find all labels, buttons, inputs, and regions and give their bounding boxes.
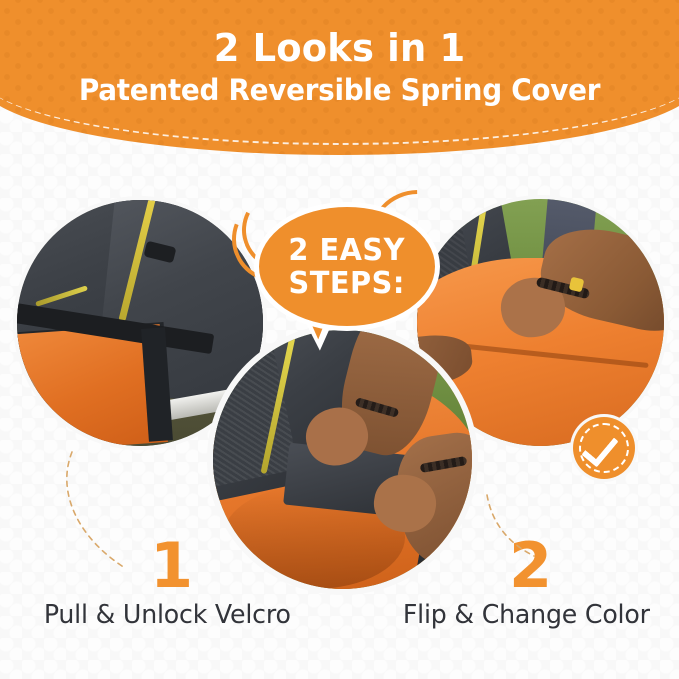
photo-step-2-image [213,330,472,589]
callout-bubble: 2 EASY STEPS: [236,194,456,354]
callout-bubble-body: 2 EASY STEPS: [254,202,440,331]
callout-text-line-2: STEPS: [289,267,406,300]
header-text-block: 2 Looks in 1 Patented Reversible Spring … [0,0,679,108]
infographic-stage: 2 Looks in 1 Patented Reversible Spring … [0,0,679,679]
step-number-2: 2 [509,535,552,597]
page-title: 2 Looks in 1 [10,26,669,70]
connector-line-step-1 [67,452,125,568]
step-number-1: 1 [150,535,193,597]
step-label-2: Flip & Change Color [403,600,650,630]
callout-text: 2 EASY STEPS: [289,234,406,300]
check-badge [573,417,635,479]
photo-step-2 [213,330,472,589]
callout-text-line-1: 2 EASY [289,234,406,267]
page-subtitle: Patented Reversible Spring Cover [14,73,666,108]
step-label-1: Pull & Unlock Velcro [44,600,291,630]
